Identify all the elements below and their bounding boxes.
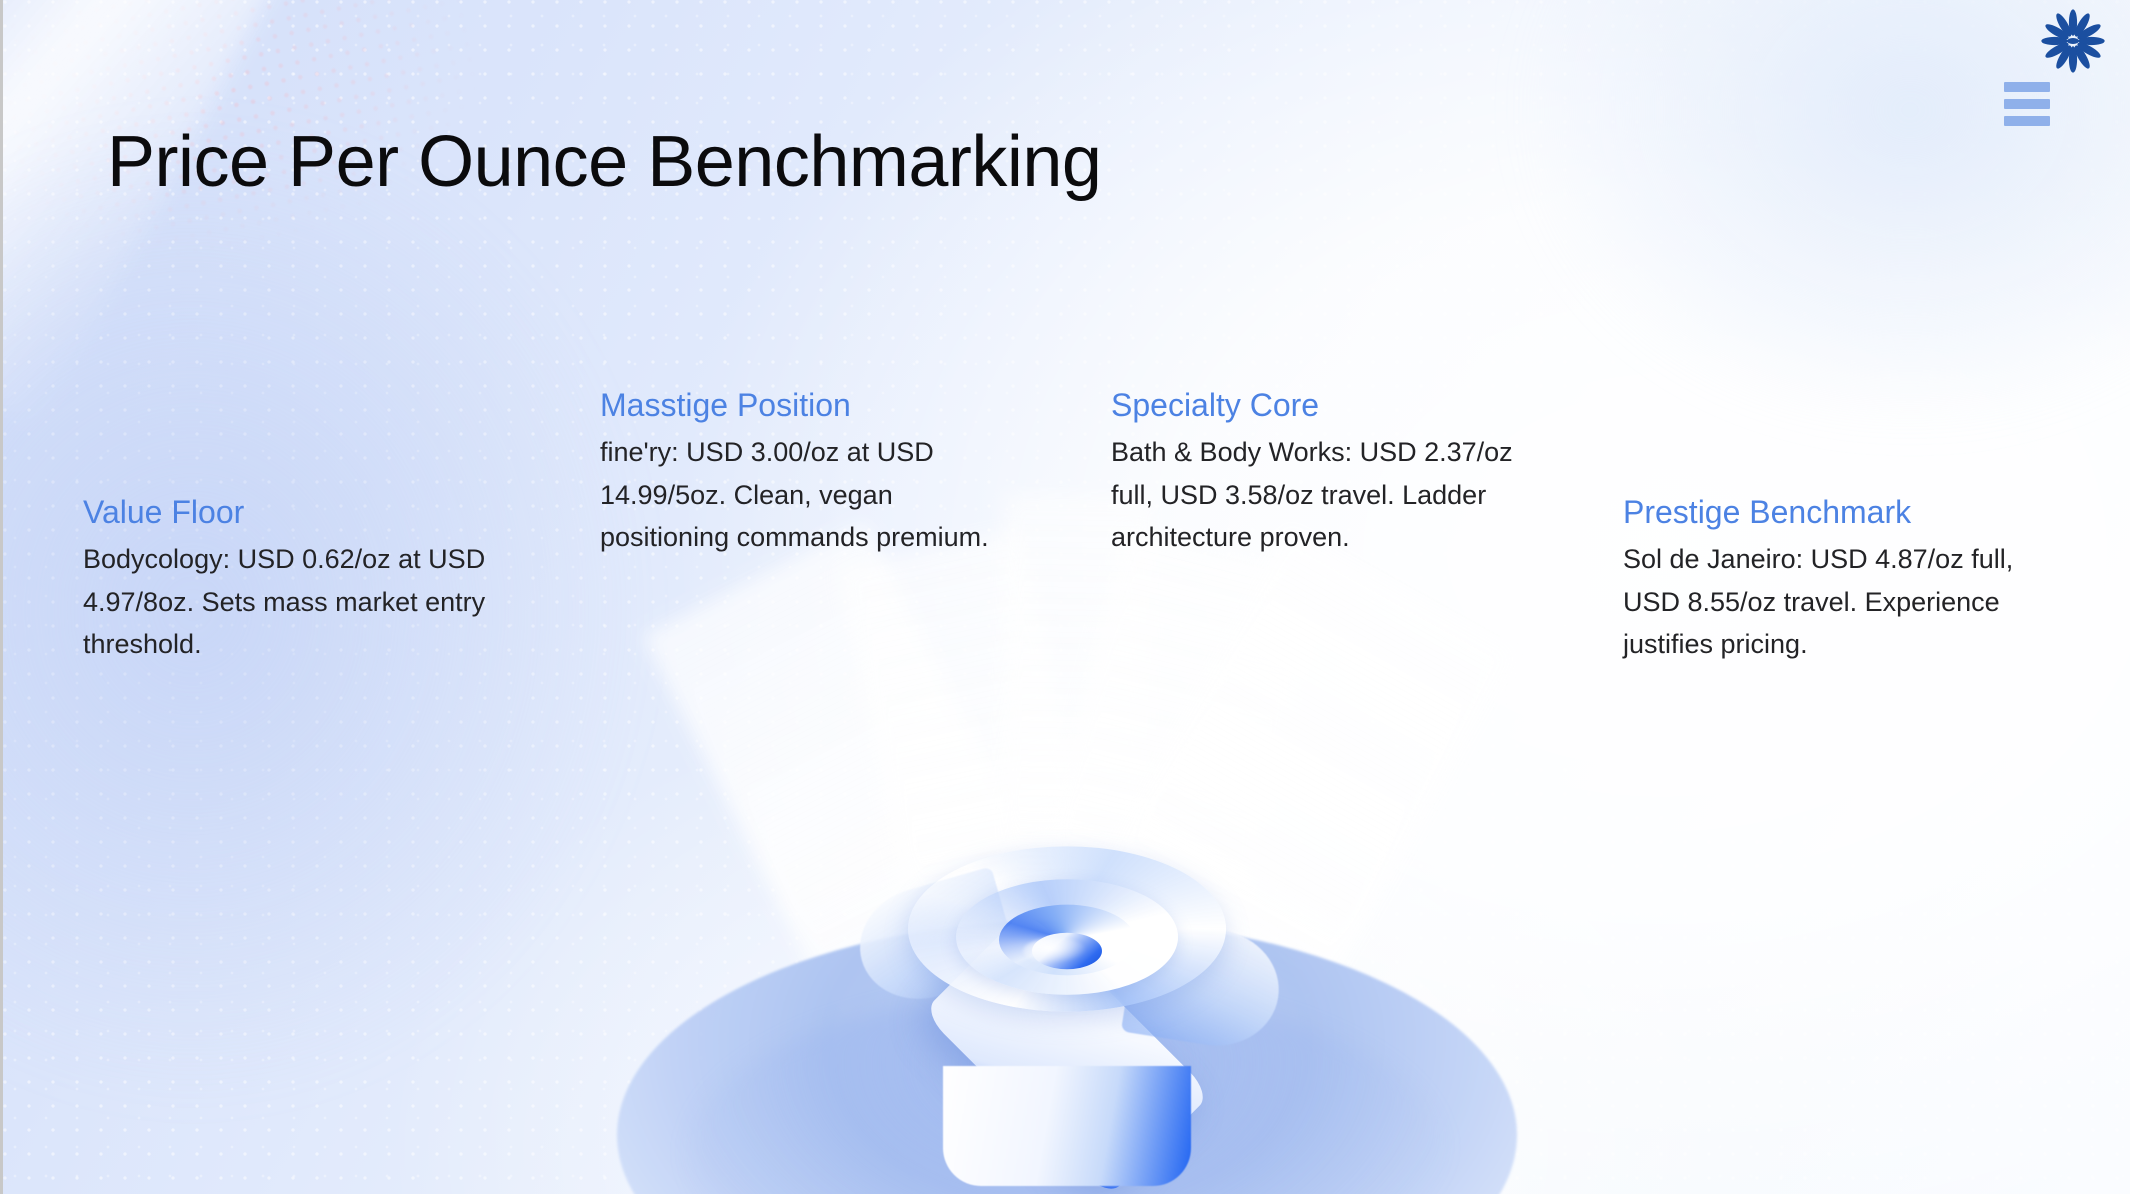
pedestal-base xyxy=(617,920,1517,1194)
benchmark-block-body: Bath & Body Works: USD 2.37/oz full, USD… xyxy=(1111,431,1531,559)
light-ray xyxy=(965,528,1328,1194)
glass-ribbon-wing-right xyxy=(1120,917,1286,1054)
light-ray xyxy=(992,493,1154,1194)
hamburger-bar xyxy=(2004,99,2050,109)
benchmark-block-prestige-benchmark: Prestige Benchmark Sol de Janeiro: USD 4… xyxy=(1623,492,2043,666)
light-ray xyxy=(836,529,1159,1194)
benchmark-block-body: fine'ry: USD 3.00/oz at USD 14.99/5oz. C… xyxy=(600,431,1010,559)
flower-burst-logo-icon xyxy=(2040,8,2106,74)
hamburger-bar xyxy=(2004,82,2050,92)
page-title: Price Per Ounce Benchmarking xyxy=(107,124,1101,202)
benchmark-block-masstige-position: Masstige Position fine'ry: USD 3.00/oz a… xyxy=(600,385,1010,559)
hamburger-menu-icon[interactable] xyxy=(2004,82,2050,126)
glass-ribbon-mid xyxy=(956,879,1178,994)
glass-ribbon-wing-left xyxy=(846,866,1021,1013)
benchmark-block-heading: Masstige Position xyxy=(600,385,1010,425)
glass-highlight xyxy=(1023,938,1087,964)
benchmark-block-value-floor: Value Floor Bodycology: USD 0.62/oz at U… xyxy=(83,492,503,666)
glass-ribbon-core xyxy=(1032,933,1102,969)
benchmark-block-body: Bodycology: USD 0.62/oz at USD 4.97/8oz.… xyxy=(83,538,503,666)
hamburger-bar xyxy=(2004,116,2050,126)
pedestal-shading xyxy=(687,990,1447,1194)
benchmark-block-specialty-core: Specialty Core Bath & Body Works: USD 2.… xyxy=(1111,385,1531,559)
benchmark-block-heading: Specialty Core xyxy=(1111,385,1531,425)
sculpture-plinth-face xyxy=(943,1066,1191,1186)
sculpture-plinth xyxy=(922,908,1211,1194)
light-ray xyxy=(642,522,1178,1194)
glass-swirl-sculpture-illustration xyxy=(597,770,1537,1194)
glass-ribbon-inner xyxy=(999,905,1135,976)
benchmark-block-body: Sol de Janeiro: USD 4.87/oz full, USD 8.… xyxy=(1623,538,2043,666)
slide-canvas: Price Per Ounce Benchmarking Value Floor… xyxy=(0,0,2130,1194)
benchmark-block-heading: Prestige Benchmark xyxy=(1623,492,2043,532)
glass-ribbon-outer xyxy=(908,846,1226,1011)
light-ray xyxy=(953,527,1515,1194)
benchmark-block-heading: Value Floor xyxy=(83,492,503,532)
light-streak-decoration xyxy=(0,0,292,429)
